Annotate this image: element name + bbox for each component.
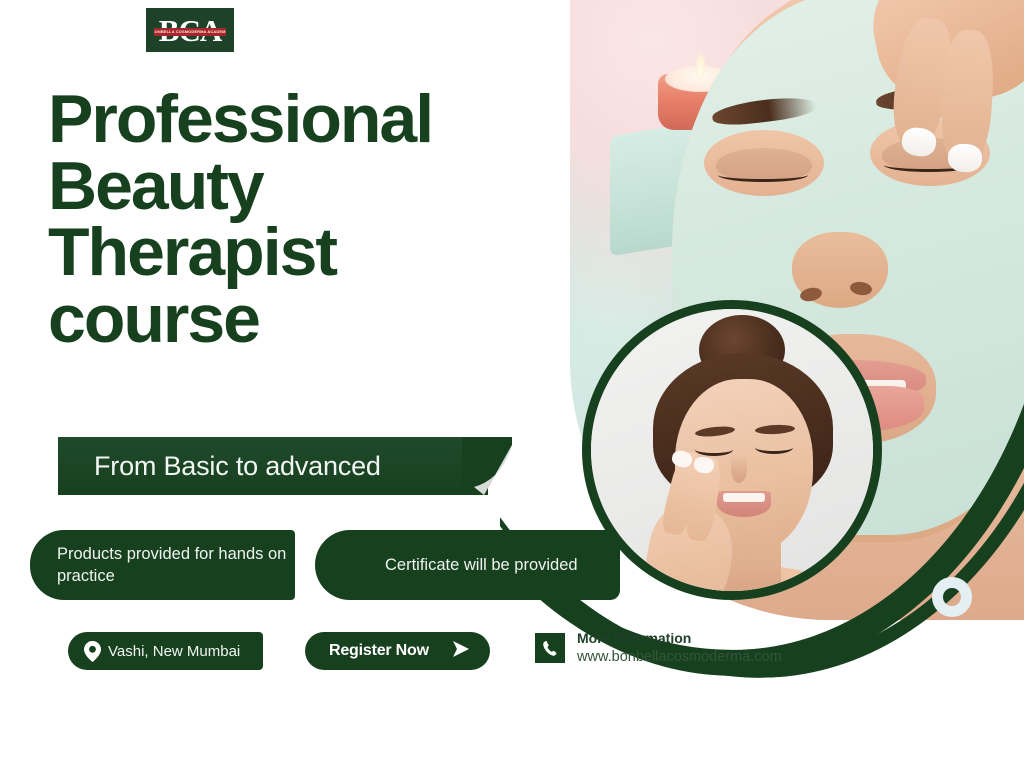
logo-band-text: BONBELLA COSMODERMA ACADEMY: [154, 30, 226, 34]
contact-url[interactable]: www.bonbellacosmoderma.com: [577, 649, 782, 665]
contact-info: More Information www.bonbellacosmoderma.…: [535, 630, 782, 667]
footer-bar: Vashi, New Mumbai Register Now More Info…: [60, 632, 960, 674]
poster-canvas: BCA BONBELLA COSMODERMA ACADEMY Professi…: [0, 0, 1024, 768]
logo-band: BONBELLA COSMODERMA ACADEMY: [154, 28, 226, 36]
location-label: Vashi, New Mumbai: [108, 643, 240, 660]
feature-list: Products provided for hands on practice …: [30, 530, 620, 600]
headline-line-1: Professional: [48, 86, 518, 153]
register-button[interactable]: Register Now: [305, 632, 490, 670]
headline-line-3: Therapist: [48, 219, 518, 286]
contact-title: More Information: [577, 630, 691, 646]
brand-logo[interactable]: BCA BONBELLA COSMODERMA ACADEMY: [146, 8, 234, 52]
phone-icon: [535, 633, 565, 663]
ribbon-fold-corner: [462, 437, 512, 495]
headline-line-4: course: [48, 286, 518, 353]
therapist-hand: [838, 0, 1024, 202]
artwork-region: [490, 0, 1024, 620]
location-chip[interactable]: Vashi, New Mumbai: [68, 632, 263, 670]
feature-text: Products provided for hands on practice: [57, 543, 295, 588]
register-label: Register Now: [329, 642, 429, 660]
inset-portrait: [582, 300, 882, 600]
headline-line-2: Beauty: [48, 153, 518, 220]
page-title: Professional Beauty Therapist course: [48, 86, 518, 353]
feature-text: Certificate will be provided: [385, 554, 578, 576]
feature-pill-certificate: Certificate will be provided: [315, 530, 620, 600]
pale-ring-decoration: [932, 577, 972, 617]
subtitle-text: From Basic to advanced: [94, 451, 381, 482]
feature-pill-products: Products provided for hands on practice: [30, 530, 295, 600]
map-pin-icon: [84, 641, 101, 662]
arrow-right-icon: [450, 639, 472, 664]
subtitle-ribbon: From Basic to advanced: [58, 437, 488, 495]
